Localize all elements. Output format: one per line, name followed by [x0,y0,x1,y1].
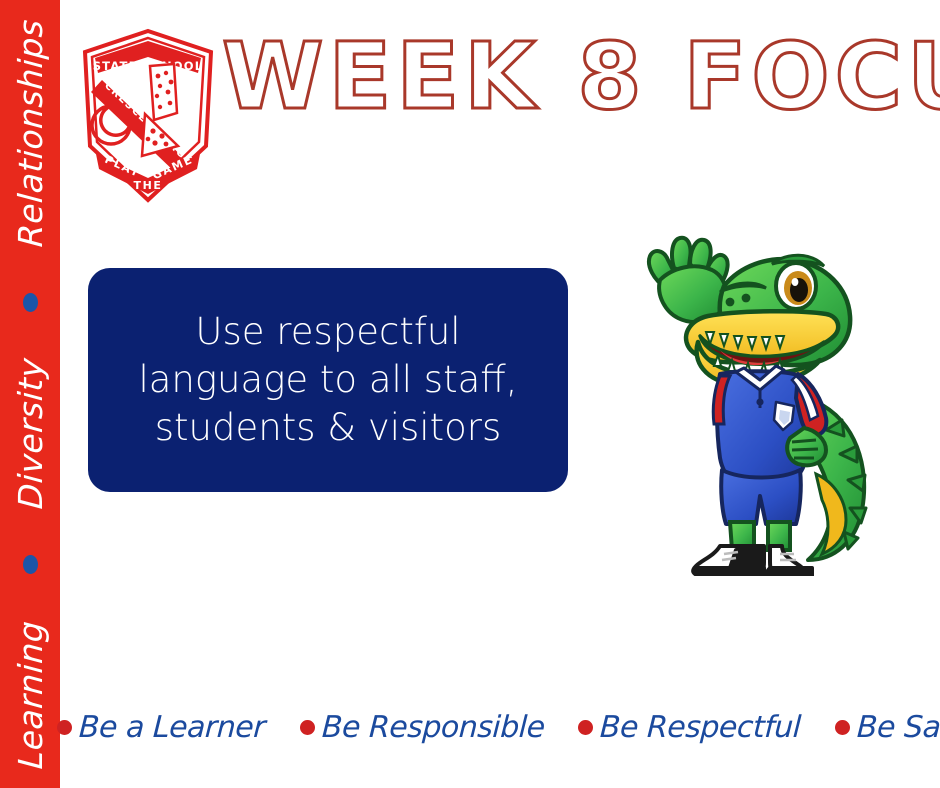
focus-message-text: Use respectful language to all staff, st… [114,308,542,452]
bullet-dot-icon [57,720,72,735]
svg-text:STATE SCHOOL: STATE SCHOOL [93,59,204,73]
expectation-label: Be Safe [856,710,940,745]
school-values-list: Learning Diversity Relationships [0,0,60,788]
school-crest-icon: STATE SCHOOL CRESCENT LAGOON PLAY THE GA… [78,28,218,203]
bullet-dot-icon [300,720,315,735]
value-learning: Learning [11,619,50,770]
expectation-be-respectful: Be Respectful [578,710,801,745]
crocodile-mascot-icon [620,224,900,576]
value-diversity: Diversity [11,357,50,511]
school-values-sidebar: Learning Diversity Relationships [0,0,60,788]
value-separator-dot-icon [23,555,38,574]
value-separator-dot-icon [23,293,38,312]
bullet-dot-icon [578,720,593,735]
school-expectations-row: Be a Learner Be Responsible Be Respectfu… [60,696,940,758]
page-title-text: WEEK 8 FOCUS [222,31,940,123]
page-title: WEEK 8 FOCUS [222,22,940,132]
week-focus-poster: Learning Diversity Relationships STATE S… [0,0,940,788]
expectation-label: Be Responsible [321,710,546,745]
value-relationships: Relationships [11,18,50,248]
expectation-be-responsible: Be Responsible [300,710,545,745]
expectation-be-safe: Be Safe [835,710,940,745]
bullet-dot-icon [835,720,850,735]
expectation-be-a-learner: Be a Learner [57,710,265,745]
expectation-label: Be Respectful [599,710,802,745]
focus-message-panel: Use respectful language to all staff, st… [88,268,568,492]
expectation-label: Be a Learner [79,710,267,745]
